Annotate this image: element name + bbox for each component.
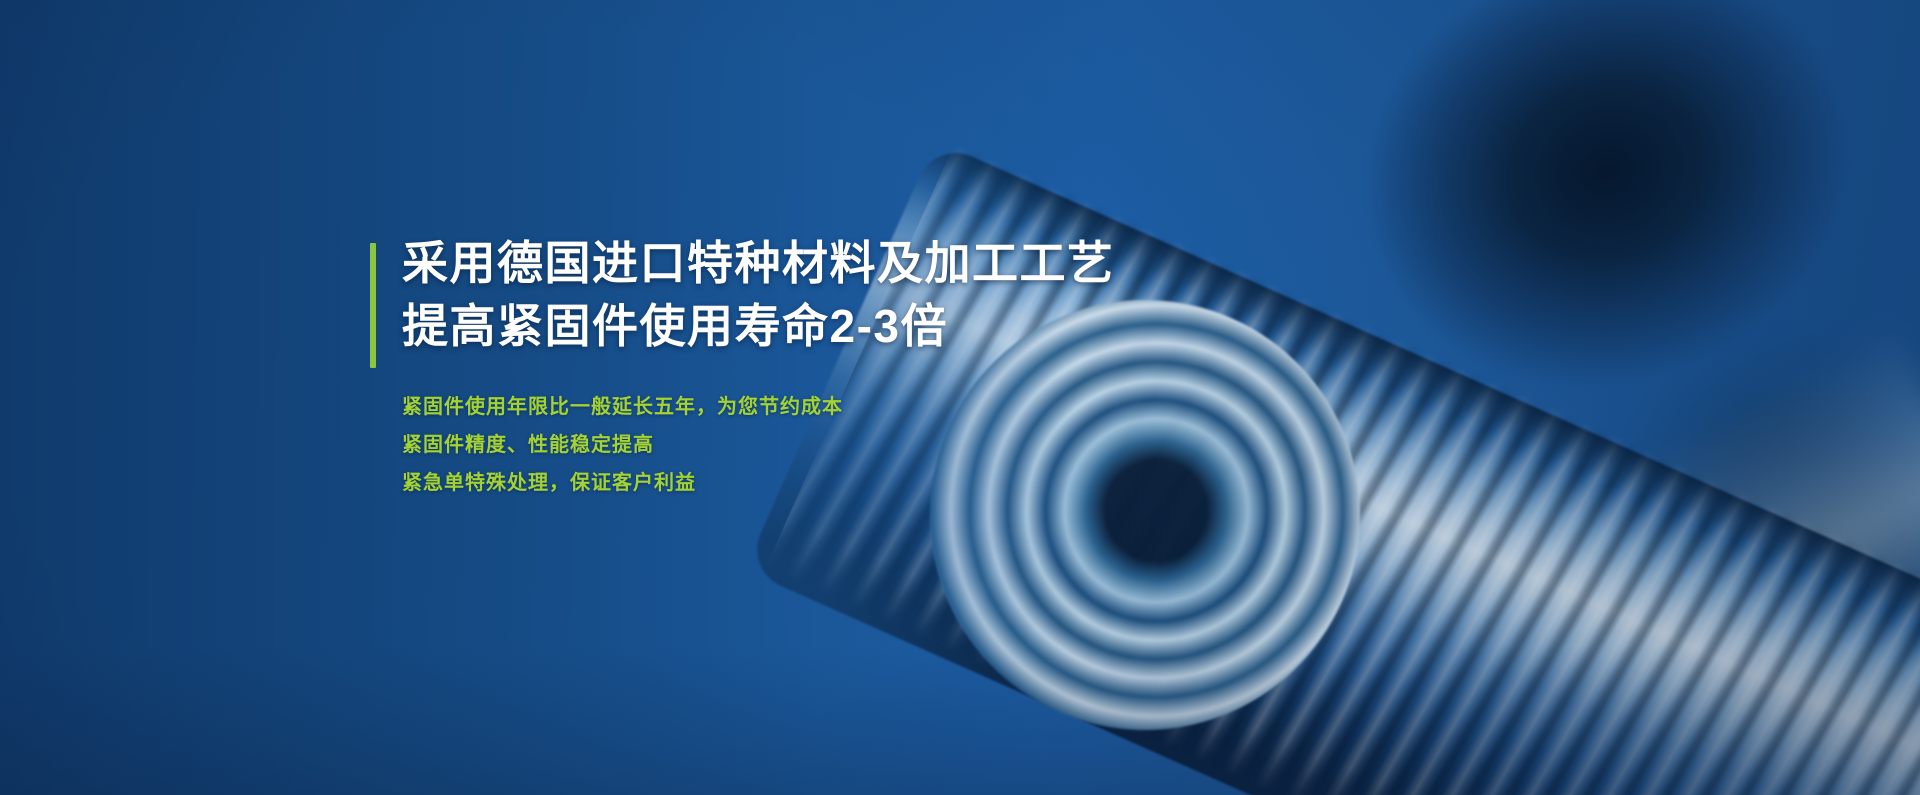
subtitle-line-3: 紧急单特殊处理，保证客户利益 — [402, 464, 1270, 502]
headline-block: 采用德国进口特种材料及加工工艺 提高紧固件使用寿命2-3倍 — [370, 232, 1270, 358]
hero-banner: 采用德国进口特种材料及加工工艺 提高紧固件使用寿命2-3倍 紧固件使用年限比一般… — [0, 0, 1920, 795]
bottom-fade-overlay — [0, 645, 1920, 795]
subtitle-line-1: 紧固件使用年限比一般延长五年，为您节约成本 — [402, 388, 1270, 426]
green-accent-bar — [370, 243, 376, 368]
subtitle-line-2: 紧固件精度、性能稳定提高 — [402, 426, 1270, 464]
banner-content: 采用德国进口特种材料及加工工艺 提高紧固件使用寿命2-3倍 紧固件使用年限比一般… — [370, 232, 1270, 502]
headline-line-2: 提高紧固件使用寿命2-3倍 — [402, 295, 1270, 358]
subtitle-block: 紧固件使用年限比一般延长五年，为您节约成本 紧固件精度、性能稳定提高 紧急单特殊… — [370, 388, 1270, 502]
headline-line-1: 采用德国进口特种材料及加工工艺 — [402, 232, 1270, 295]
